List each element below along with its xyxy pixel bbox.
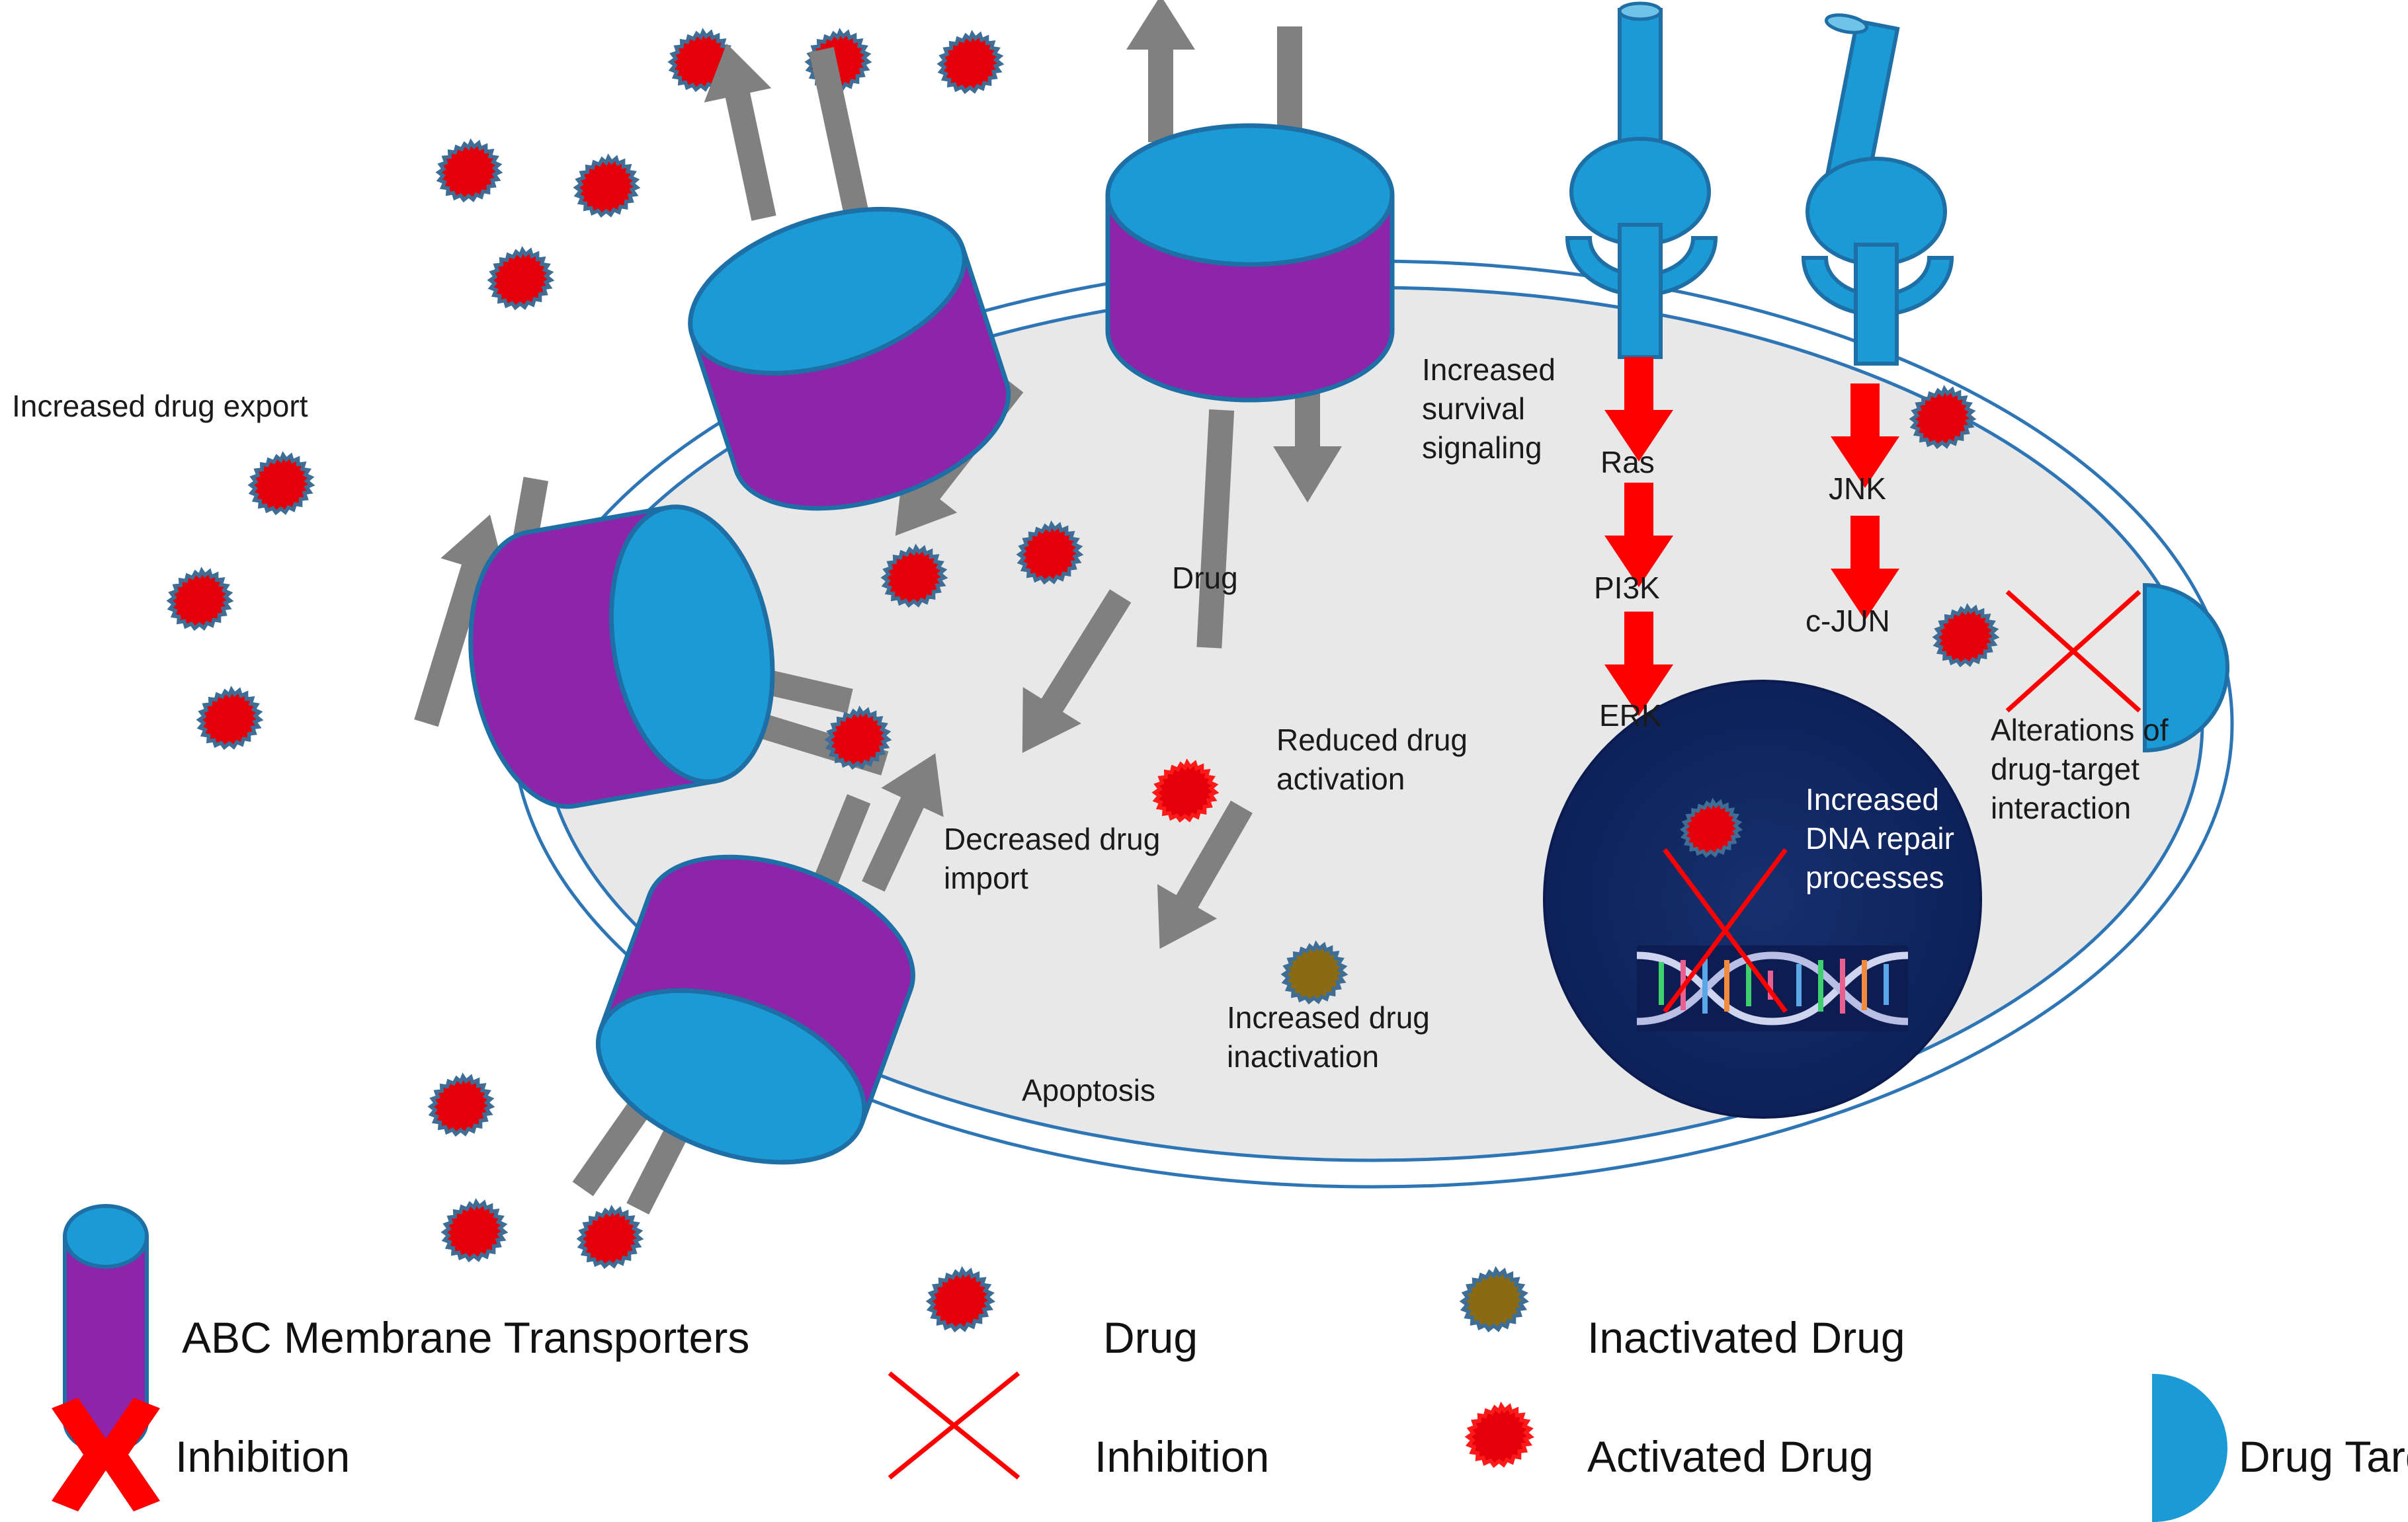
legend-label-activated-drug: Activated Drug: [1587, 1431, 1874, 1482]
label-increased-drug-export: Increased drug export: [12, 387, 308, 426]
drug-particle-group-left: [169, 455, 311, 747]
label-alterations-drug-target: Alterations of drug-target interaction: [1991, 711, 2168, 828]
label-decreased-drug-import: Decreased drug import: [944, 820, 1160, 898]
pathway-node-cjun: c-JUN: [1806, 603, 1890, 639]
figure-canvas: Increased drug export Drug Decreased dru…: [0, 0, 2408, 1522]
abc-transporter-top-center: [1108, 126, 1392, 400]
legend-label-inactivated-drug: Inactivated Drug: [1587, 1312, 1905, 1363]
dna-helix-image: [1637, 945, 1908, 1031]
receptor-right: [1804, 12, 1952, 364]
legend-icon-drug-target: [2153, 1375, 2226, 1521]
legend-label-inhibition-bold: Inhibition: [175, 1431, 350, 1482]
pathway-node-jnk: JNK: [1829, 471, 1886, 506]
nucleus: [1544, 681, 1981, 1117]
label-reduced-drug-activation: Reduced drug activation: [1276, 721, 1468, 799]
label-increased-dna-repair: Increased DNA repair processes: [1806, 780, 1954, 897]
pathway-node-pi3k: PI3K: [1594, 570, 1660, 606]
label-drug: Drug: [1172, 559, 1238, 598]
pathway-node-erk: ERK: [1599, 698, 1662, 733]
legend-label-abc-membrane-transporters: ABC Membrane Transporters: [182, 1312, 749, 1363]
legend-icon-thin-x: [890, 1373, 1018, 1478]
label-apoptosis: Apoptosis: [1022, 1071, 1155, 1110]
legend-icon-drug-burst: [929, 1270, 992, 1330]
legend-label-drug-target: Drug Target: [2239, 1431, 2408, 1482]
pathway-node-ras: Ras: [1600, 444, 1655, 480]
legend-label-inhibition-thin: Inhibition: [1095, 1431, 1269, 1482]
label-increased-drug-inactivation: Increased drug inactivation: [1227, 998, 1430, 1076]
legend-icon-inactivated-drug: [1463, 1270, 1526, 1330]
legend-icon-activated-drug: [1468, 1406, 1531, 1465]
legend-label-drug: Drug: [1103, 1312, 1198, 1363]
label-increased-survival-signaling: Increased survival signaling: [1422, 350, 1556, 467]
